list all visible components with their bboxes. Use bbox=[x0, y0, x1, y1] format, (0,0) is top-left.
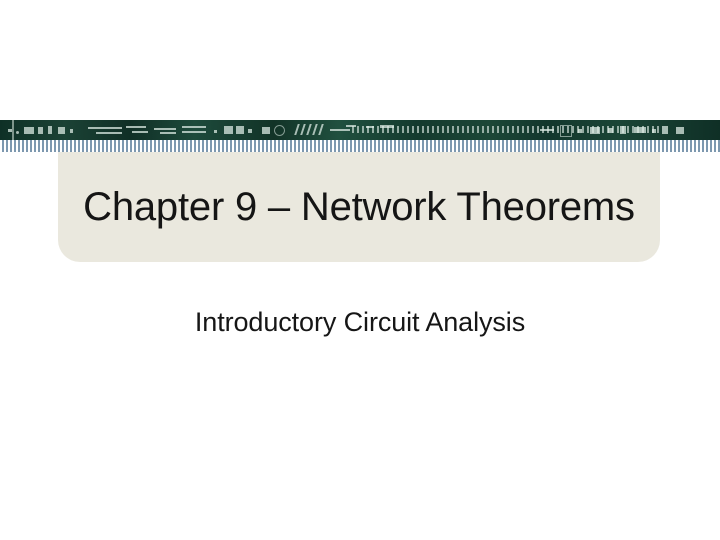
circuit-trace-line bbox=[126, 126, 146, 128]
subtitle-container: Introductory Circuit Analysis bbox=[58, 306, 662, 338]
circuit-chip-icon bbox=[590, 127, 600, 134]
page-subtitle: Introductory Circuit Analysis bbox=[195, 307, 525, 337]
circuit-trace-line bbox=[540, 129, 554, 131]
circuit-pad-icon bbox=[70, 129, 73, 133]
circuit-pad-icon bbox=[652, 129, 656, 133]
circuit-chip-icon bbox=[24, 127, 34, 134]
circuit-chip-icon bbox=[262, 127, 270, 134]
circuit-chip-icon bbox=[236, 126, 244, 134]
circuit-trace-line bbox=[330, 129, 350, 131]
circuit-ic-outline-icon bbox=[560, 125, 572, 137]
circuit-hatch-line bbox=[306, 124, 312, 135]
circuit-trace-line bbox=[346, 125, 356, 127]
page-title: Chapter 9 – Network Theorems bbox=[83, 186, 635, 228]
circuit-trace-line bbox=[96, 132, 122, 134]
connector-pin-comb bbox=[0, 140, 720, 152]
circuit-pad-icon bbox=[608, 128, 613, 133]
circuit-ic-outline-icon bbox=[274, 125, 285, 136]
circuit-hatch-line bbox=[300, 124, 306, 135]
circuit-hatch-line bbox=[312, 124, 318, 135]
circuit-hatch-line bbox=[294, 124, 300, 135]
circuit-board-banner bbox=[0, 120, 720, 140]
circuit-trace-line bbox=[182, 126, 206, 128]
circuit-components bbox=[0, 120, 720, 140]
circuit-chip-icon bbox=[634, 127, 646, 133]
circuit-chip-icon bbox=[58, 127, 65, 134]
circuit-pad-icon bbox=[248, 129, 252, 133]
slide: Chapter 9 – Network Theorems Introductor… bbox=[0, 0, 720, 540]
circuit-trace-line bbox=[160, 132, 176, 134]
circuit-chip-icon bbox=[620, 126, 626, 134]
circuit-pad-icon bbox=[578, 129, 582, 133]
circuit-pad-icon bbox=[214, 130, 217, 133]
circuit-chip-icon bbox=[38, 127, 43, 134]
circuit-hatch-line bbox=[318, 124, 324, 135]
circuit-pad-icon bbox=[8, 129, 12, 132]
circuit-chip-icon bbox=[48, 126, 52, 134]
circuit-pad-icon bbox=[16, 131, 19, 134]
circuit-trace-line bbox=[380, 125, 394, 128]
circuit-trace-line bbox=[366, 126, 374, 128]
circuit-trace-line bbox=[132, 131, 148, 133]
circuit-chip-icon bbox=[224, 126, 233, 134]
title-panel: Chapter 9 – Network Theorems bbox=[58, 152, 660, 262]
circuit-chip-icon bbox=[662, 126, 668, 134]
circuit-chip-icon bbox=[676, 127, 684, 134]
circuit-trace-line bbox=[88, 127, 122, 129]
circuit-trace-line bbox=[182, 131, 206, 133]
circuit-trace-line bbox=[154, 128, 176, 130]
